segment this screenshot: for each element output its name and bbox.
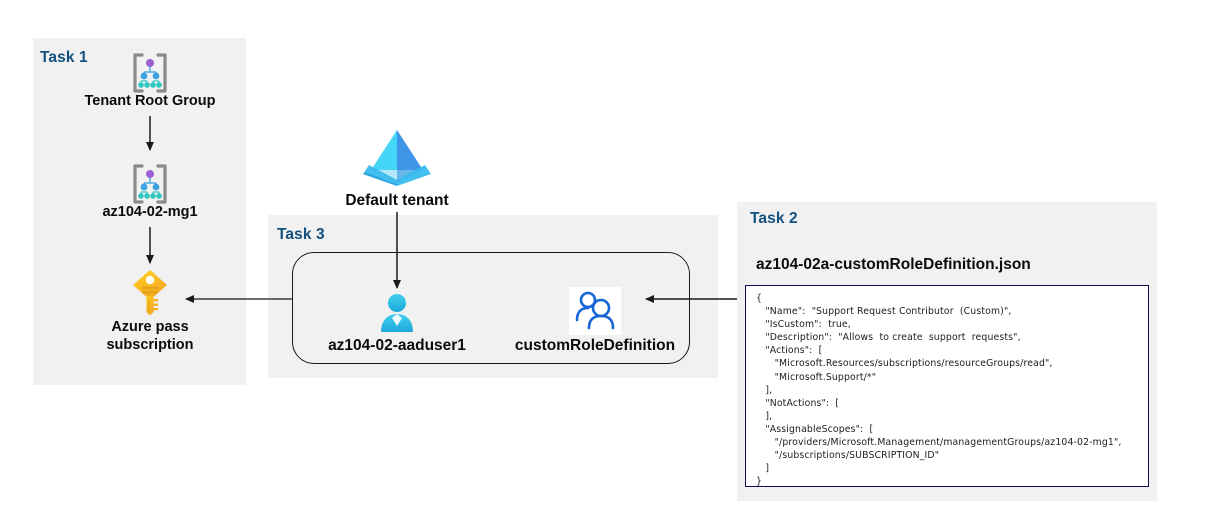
role-definition-caption: customRoleDefinition: [495, 336, 695, 355]
json-code-box: { "Name": "Support Request Contributor (…: [745, 285, 1149, 487]
tenant-root-group-caption: Tenant Root Group: [42, 92, 258, 110]
key-icon: [128, 268, 172, 316]
default-tenant-caption: Default tenant: [297, 191, 497, 210]
task3-label: Task 3: [277, 226, 325, 244]
task1-label: Task 1: [40, 49, 88, 67]
role-definition-icon: [569, 287, 621, 335]
aaduser-caption: az104-02-aaduser1: [297, 336, 497, 355]
user-icon: [376, 292, 418, 334]
management-group-icon: [127, 161, 173, 207]
diagram-canvas: Task 1 Task 3 Task 2: [0, 0, 1212, 522]
azure-ad-tenant-icon: [358, 126, 436, 188]
subscription-caption: Azure pass subscription: [42, 318, 258, 354]
management-group-icon: [127, 50, 173, 96]
task2-label: Task 2: [750, 210, 798, 228]
json-code-text: { "Name": "Support Request Contributor (…: [756, 292, 1140, 488]
json-filename-label: az104-02a-customRoleDefinition.json: [756, 256, 1031, 274]
management-group-caption: az104-02-mg1: [42, 203, 258, 221]
